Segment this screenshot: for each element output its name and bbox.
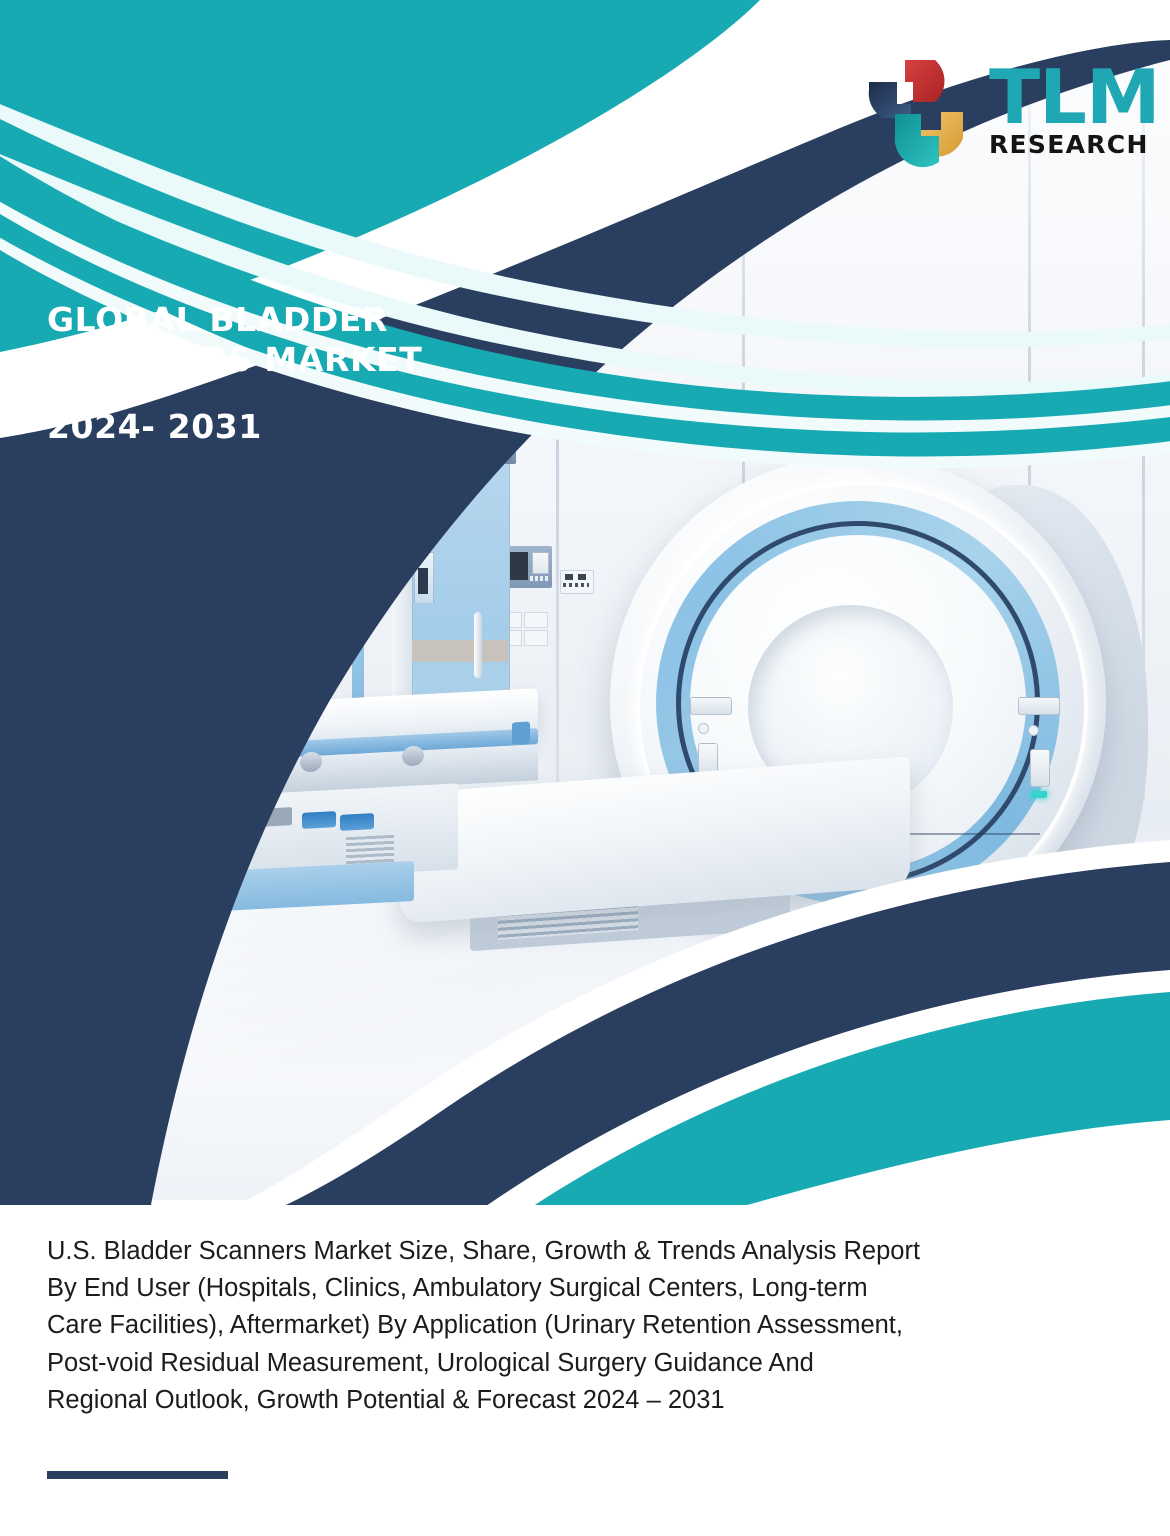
title-line-1: GLOBAL BLADDER bbox=[47, 300, 388, 339]
table-slot bbox=[340, 813, 374, 831]
table-slot bbox=[202, 803, 224, 820]
title-line-2: SCANNERS MARKET bbox=[47, 340, 422, 379]
wall-outlet bbox=[524, 630, 548, 646]
gantry-base bbox=[898, 895, 1128, 1005]
wall-outlet bbox=[524, 612, 548, 628]
door-window-inner bbox=[418, 568, 428, 594]
gantry-display-left bbox=[690, 697, 732, 715]
tlm-research-logo[interactable]: TLM RESEARCH bbox=[857, 48, 1147, 174]
wall-switch-row bbox=[563, 583, 589, 587]
page-title: GLOBAL BLADDER SCANNERS MARKET bbox=[47, 300, 567, 381]
logo-wordmark: TLM RESEARCH bbox=[989, 65, 1160, 158]
table-label bbox=[258, 807, 292, 827]
radiography-table bbox=[88, 700, 558, 940]
gantry-display-right bbox=[1018, 697, 1060, 715]
description-line-5: Regional Outlook, Growth Potential & For… bbox=[47, 1382, 1077, 1419]
cover-title-block: GLOBAL BLADDER SCANNERS MARKET 2024- 203… bbox=[47, 300, 567, 446]
control-panel-button bbox=[532, 552, 549, 574]
gantry-indicator-left bbox=[698, 723, 709, 734]
gantry-indicator-right bbox=[1028, 725, 1039, 736]
door-handle bbox=[474, 612, 482, 678]
radiology-room-photo bbox=[0, 0, 1170, 1200]
table-cassette-tray bbox=[170, 685, 214, 699]
wall-switch bbox=[565, 574, 573, 580]
logo-brand-subtitle: RESEARCH bbox=[989, 132, 1160, 157]
wall-switch bbox=[578, 574, 586, 580]
table-rail-cap bbox=[512, 722, 530, 745]
door-header bbox=[404, 446, 516, 464]
pinwheel-cross-logo-icon bbox=[857, 52, 975, 170]
description-line-4: Post-void Residual Measurement, Urologic… bbox=[47, 1345, 1077, 1382]
report-description: U.S. Bladder Scanners Market Size, Share… bbox=[47, 1233, 1077, 1419]
logo-brand-name: TLM bbox=[989, 65, 1160, 130]
gantry-led-right bbox=[1031, 791, 1047, 798]
coiled-cable bbox=[318, 480, 338, 600]
table-slot bbox=[302, 811, 336, 829]
table-slot bbox=[230, 805, 252, 822]
footer-accent-rule bbox=[47, 1471, 228, 1479]
table-slot bbox=[110, 799, 148, 817]
description-line-1: U.S. Bladder Scanners Market Size, Share… bbox=[47, 1233, 1077, 1270]
door-kick-stripe bbox=[412, 640, 508, 662]
table-slot bbox=[156, 801, 194, 819]
gantry-keypad-right bbox=[1030, 749, 1050, 787]
table-rail-cap bbox=[84, 746, 102, 769]
description-line-2: By End User (Hospitals, Clinics, Ambulat… bbox=[47, 1270, 1077, 1307]
control-panel-indicators bbox=[530, 576, 548, 581]
report-years: 2024- 2031 bbox=[47, 407, 567, 446]
report-cover-page: TLM RESEARCH GLOBAL BLADDER SCANNERS MAR… bbox=[0, 0, 1170, 1536]
description-line-3: Care Facilities), Aftermarket) By Applic… bbox=[47, 1307, 1077, 1344]
hero-image bbox=[0, 0, 1170, 1200]
